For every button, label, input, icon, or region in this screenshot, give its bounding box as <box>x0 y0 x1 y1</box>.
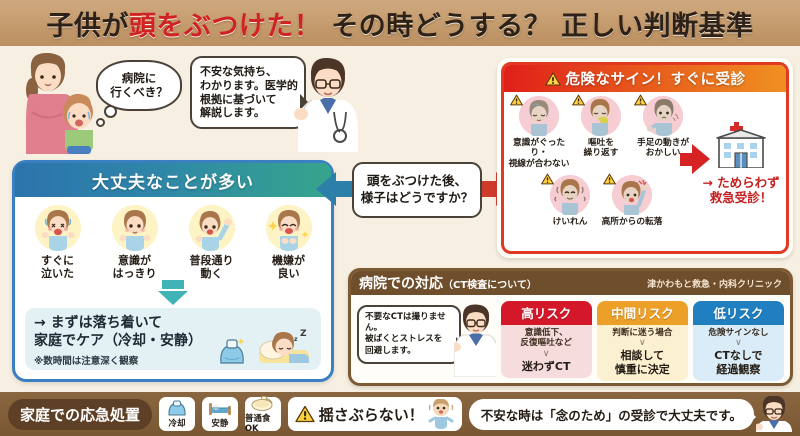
reassurance-bubble: 不安な時は「念のため」の受診で大丈夫です。 <box>469 399 754 430</box>
risk-card-title: 高リスク <box>501 301 592 325</box>
chevron-down-icon: ∨ <box>503 350 590 359</box>
risk-condition: 判断に迷う場合 <box>599 328 686 338</box>
condition-line-2: 反復嘔吐など <box>503 338 590 348</box>
low-risk-item-label: 機嫌が 良い <box>253 254 325 280</box>
danger-item-label: 意識がぐったり・ 視線が合わない <box>508 138 570 169</box>
chip-label: 冷却 <box>168 417 185 429</box>
label-line-1: けいれん <box>539 217 601 227</box>
danger-item-label: 嘔吐を 繰り返す <box>570 138 632 159</box>
danger-item: 嘔吐を 繰り返す <box>570 96 632 169</box>
bed-rest-icon <box>208 400 232 416</box>
fall-from-height-icon <box>612 175 652 215</box>
label-line-2: はっきり <box>99 267 171 280</box>
waving-child-icon <box>189 205 235 251</box>
mother-bubble-line-1: 病院に <box>104 71 174 85</box>
low-risk-item-label: 普段通り 動く <box>176 254 248 280</box>
seizure-child-icon <box>550 175 590 215</box>
svg-text:z: z <box>294 336 298 343</box>
low-risk-panel-header: 大丈夫なことが多い <box>15 163 331 197</box>
chevron-down-icon: ∨ <box>695 339 782 348</box>
infographic-page: 子供が頭をぶつけた！ その時どうする？ 正しい判断基準 病院に 行くべき？ <box>0 0 800 436</box>
do-not-shake-text: 揺さぶらない！ <box>319 404 424 425</box>
hospital-response-panel: 病院での対応（CT検査について） 津かわもと救急・内科クリニック 不要なCTは撮… <box>348 268 793 386</box>
danger-item: 高所からの転落 <box>601 175 663 227</box>
mother-with-baby-illustration <box>12 50 108 154</box>
risk-card-high: 高リスク 意識低下、 反復嘔吐など ∨ 迷わずCT <box>501 301 592 378</box>
action-line-1: CTなしで <box>695 349 782 362</box>
label-line-2: 視線が合わない <box>508 159 570 169</box>
danger-item-label: 高所からの転落 <box>601 217 663 227</box>
emergency-arrow-icon <box>692 144 710 174</box>
footer-bar: 家庭での応急処置 冷却 安静 <box>0 392 800 436</box>
label-line-2: 泣いた <box>22 267 94 280</box>
danger-panel-body: 意識がぐったり・ 視線が合わない <box>504 92 786 253</box>
question-line-1: 頭をぶつけた後、 <box>367 173 467 190</box>
emergency-cta-text: → ためらわず 救急受診！ <box>696 175 786 205</box>
title-pre: 子供が <box>46 11 129 42</box>
danger-item: けいれん <box>539 175 601 227</box>
danger-panel-header: 危険なサイン！すぐに受診 <box>504 65 786 92</box>
low-risk-item-label: すぐに 泣いた <box>22 254 94 280</box>
happy-child-icon <box>266 205 312 251</box>
danger-panel: 危険なサイン！すぐに受診 <box>501 62 789 254</box>
risk-condition: 危険サインなし <box>695 328 782 338</box>
action-line-1: 相談して <box>599 349 686 362</box>
low-risk-item: 意識が はっきり <box>99 205 171 280</box>
vomiting-child-icon <box>581 96 621 136</box>
emergency-cta: → ためらわず 救急受診！ <box>696 92 786 253</box>
risk-card-medium: 中間リスク 判断に迷う場合 ∨ 相談して 慎重に決定 <box>597 301 688 381</box>
danger-symptoms: 意識がぐったり・ 視線が合わない <box>504 92 696 253</box>
condition-line-1: 判断に迷う場合 <box>599 328 686 338</box>
cta-line-1: → ためらわず <box>696 175 786 190</box>
action-line-2: 経過観察 <box>695 363 782 376</box>
chevron-down-icon: ∨ <box>599 339 686 348</box>
risk-card-body: 判断に迷う場合 ∨ 相談して 慎重に決定 <box>597 325 688 381</box>
risk-card-title: 中間リスク <box>597 301 688 325</box>
risk-card-low: 低リスク 危険サインなし ∨ CTなしで 経過観察 <box>693 301 784 381</box>
limb-weakness-child-icon <box>643 96 683 136</box>
ct-header-main: 病院での対応 <box>359 276 443 292</box>
first-aid-chip-cooling: 冷却 <box>159 397 195 431</box>
label-line-1: 普段通り <box>176 254 248 267</box>
hospital-response-title: 病院での対応（CT検査について） <box>359 273 537 293</box>
cta-line-2: 救急受診！ <box>696 190 786 205</box>
ice-pack-icon <box>166 400 188 416</box>
first-aid-badge: 家庭での応急処置 <box>8 399 152 430</box>
warning-triangle-icon <box>603 173 616 185</box>
chip-label: 安静 <box>211 417 228 429</box>
first-aid-chip-meal: 普通食OK <box>245 397 281 431</box>
normal-meal-icon <box>251 395 275 411</box>
hospital-building-icon <box>713 120 769 168</box>
risk-card-title: 低リスク <box>693 301 784 325</box>
mother-bubble-line-2: 行くべき？ <box>104 85 174 99</box>
label-line-1: すぐに <box>22 254 94 267</box>
risk-action: 迷わずCT <box>503 360 590 373</box>
arrow-to-low-risk-icon <box>316 172 336 206</box>
warning-triangle-icon <box>510 94 523 106</box>
chip-label: 普通食OK <box>245 412 281 434</box>
question-line-2: 様子はどうですか？ <box>361 190 474 207</box>
ct-bubble-line-1: 不要なCTは撮りません。 <box>365 312 453 334</box>
do-not-shake-warning: 揺さぶらない！ <box>288 397 462 431</box>
ct-header-sub: （CT検査について） <box>443 280 537 291</box>
risk-action: CTなしで 経過観察 <box>695 349 782 375</box>
warning-triangle-icon <box>295 405 315 423</box>
label-line-1: 手足の動きが <box>632 138 694 148</box>
condition-line-1: 危険サインなし <box>695 328 782 338</box>
warning-triangle-icon <box>572 94 585 106</box>
mother-speech-bubble: 病院に 行くべき？ <box>96 60 182 111</box>
ct-bubble-line-2: 被ばくとストレスを <box>365 334 453 345</box>
danger-symptom-row-2: けいれん <box>508 175 694 227</box>
label-line-1: 機嫌が <box>253 254 325 267</box>
risk-card-body: 危険サインなし ∨ CTなしで 経過観察 <box>693 325 784 381</box>
warning-triangle-icon <box>545 72 561 86</box>
svg-text:Z: Z <box>300 329 307 339</box>
action-line-2: 慎重に決定 <box>599 363 686 376</box>
low-risk-item: 普段通り 動く <box>176 205 248 280</box>
label-line-2: 良い <box>253 267 325 280</box>
ct-doctor-bubble: 不要なCTは撮りません。 被ばくとストレスを 回避します。 <box>357 305 461 364</box>
label-line-1: 高所からの転落 <box>601 217 663 227</box>
title-highlight: 頭をぶつけた！ <box>129 11 322 42</box>
label-line-2: 繰り返す <box>570 148 632 158</box>
danger-panel-frame: 危険なサイン！すぐに受診 <box>497 58 793 258</box>
label-line-1: 意識がぐったり・ <box>508 138 570 159</box>
doctor-illustration <box>454 301 496 377</box>
danger-symptom-row-1: 意識がぐったり・ 視線が合わない <box>508 96 694 169</box>
label-line-1: 嘔吐を <box>570 138 632 148</box>
footer-reassurance: 不安な時は「念のため」の受診で大丈夫です。 <box>469 396 792 432</box>
drowsy-child-icon <box>519 96 559 136</box>
low-risk-symptom-grid: すぐに 泣いた <box>15 197 331 280</box>
label-line-1: 意識が <box>99 254 171 267</box>
down-arrow-icon <box>15 280 331 305</box>
risk-card-body: 意識低下、 反復嘔吐など ∨ 迷わずCT <box>501 325 592 378</box>
danger-header-text: 危険なサイン！すぐに受診 <box>566 68 746 89</box>
alert-child-icon <box>112 205 158 251</box>
triage-question: 頭をぶつけた後、 様子はどうですか？ <box>352 162 482 218</box>
hospital-response-header: 病院での対応（CT検査について） 津かわもと救急・内科クリニック <box>351 271 790 295</box>
crying-child-icon <box>35 205 81 251</box>
sleeping-child-icon: Z z <box>253 326 313 366</box>
risk-condition: 意識低下、 反復嘔吐など <box>503 328 590 349</box>
low-risk-item: 機嫌が 良い <box>253 205 325 280</box>
baby-illustration <box>428 399 454 429</box>
ct-bubble-line-3: 回避します。 <box>365 346 453 357</box>
doctor-illustration <box>278 52 370 152</box>
low-risk-panel: 大丈夫なことが多い <box>12 160 334 382</box>
home-care-advice: → まずは落ち着いて 家庭でケア（冷却・安静） ※数時間は注意深く観察 Z z <box>25 308 321 370</box>
warning-triangle-icon <box>541 173 554 185</box>
low-risk-item: すぐに 泣いた <box>22 205 94 280</box>
title-post: その時どうする？ 正しい判断基準 <box>321 11 753 42</box>
warning-triangle-icon <box>634 94 647 106</box>
intro-row: 病院に 行くべき？ 不安な気持ち、 わかります。医学的 根拠に基づいて 解説しま… <box>0 46 470 154</box>
page-title: 子供が頭をぶつけた！ その時どうする？ 正しい判断基準 <box>46 4 753 43</box>
danger-item-label: けいれん <box>539 217 601 227</box>
condition-line-1: 意識低下、 <box>503 328 590 338</box>
label-line-2: 動く <box>176 267 248 280</box>
risk-action: 相談して 慎重に決定 <box>599 349 686 375</box>
danger-item: 意識がぐったり・ 視線が合わない <box>508 96 570 169</box>
ct-doctor-block: 不要なCTは撮りません。 被ばくとストレスを 回避します。 <box>357 301 496 381</box>
hospital-response-body: 不要なCTは撮りません。 被ばくとストレスを 回避します。 <box>351 295 790 381</box>
first-aid-chip-rest: 安静 <box>202 397 238 431</box>
ice-pack-icon <box>217 336 247 364</box>
title-bar: 子供が頭をぶつけた！ その時どうする？ 正しい判断基準 <box>0 0 800 46</box>
low-risk-item-label: 意識が はっきり <box>99 254 171 280</box>
clinic-name: 津かわもと救急・内科クリニック <box>647 277 782 290</box>
